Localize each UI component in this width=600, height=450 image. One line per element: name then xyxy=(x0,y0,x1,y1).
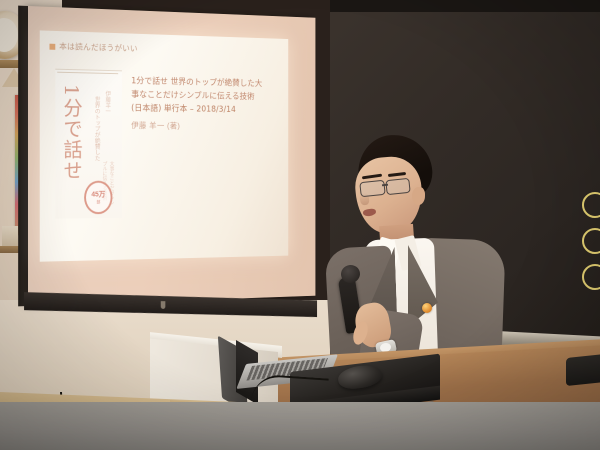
floor xyxy=(0,402,600,450)
eyeglasses-lens-right-icon xyxy=(385,178,410,195)
bag-on-desk xyxy=(566,354,600,386)
book-sales-seal: 45万 部 xyxy=(84,181,112,215)
circled-item-1-icon xyxy=(582,192,600,218)
blackboard-top-frame xyxy=(330,0,600,12)
book-cover-subtitle: 世界のトップが絶賛した xyxy=(92,96,99,161)
circled-item-2-icon xyxy=(582,228,600,254)
seal-unit: 部 xyxy=(96,199,100,205)
classroom-scene: 担任としての PDCA サイクル やさしい (⑤ほめる)が前提 伝わらない 本は… xyxy=(0,0,600,450)
slide-content: 本は読んだほうがいい 1分で話せ 世界のトップが絶賛した 伊藤羊一 大事なことだ… xyxy=(40,30,288,261)
listing-author: 伊藤 羊一 (著) xyxy=(131,120,278,132)
seal-number: 45万 xyxy=(91,190,105,200)
shelf-object xyxy=(2,226,18,248)
book-cover-rule xyxy=(57,72,118,74)
ear xyxy=(412,187,425,205)
screen-pull-knob[interactable] xyxy=(161,301,166,309)
screen-surface: 本は読んだほうがいい 1分で話せ 世界のトップが絶賛した 伊藤羊一 大事なことだ… xyxy=(40,30,288,261)
circled-item-3-icon xyxy=(582,264,600,290)
projection-screen: 本は読んだほうがいい 1分で話せ 世界のトップが絶賛した 伊藤羊一 大事なことだ… xyxy=(28,6,315,326)
lapel-pin-icon xyxy=(422,303,432,313)
book-cover-image: 1分で話せ 世界のトップが絶賛した 伊藤羊一 大事なことだけシンプルに伝える技術… xyxy=(55,69,122,219)
slide-body: 1分で話せ 世界のトップが絶賛した 伊藤羊一 大事なことだけシンプルに伝える技術… xyxy=(55,69,278,219)
screen-left-edge xyxy=(18,6,28,307)
book-cover-author: 伊藤羊一 xyxy=(103,90,111,114)
listing-line-3: (日本語) 単行本 – 2018/3/14 xyxy=(131,102,278,118)
slide-header: 本は読んだほうがいい xyxy=(49,41,137,55)
nose xyxy=(359,192,370,205)
slide-bullet-icon xyxy=(49,43,55,49)
slide-header-text: 本は読んだほうがいい xyxy=(59,41,138,54)
clock-face xyxy=(0,18,18,52)
book-listing-info: 1分で話せ 世界のトップが絶賛した大 事なことだけシンプルに伝える技術 (日本語… xyxy=(131,71,278,218)
